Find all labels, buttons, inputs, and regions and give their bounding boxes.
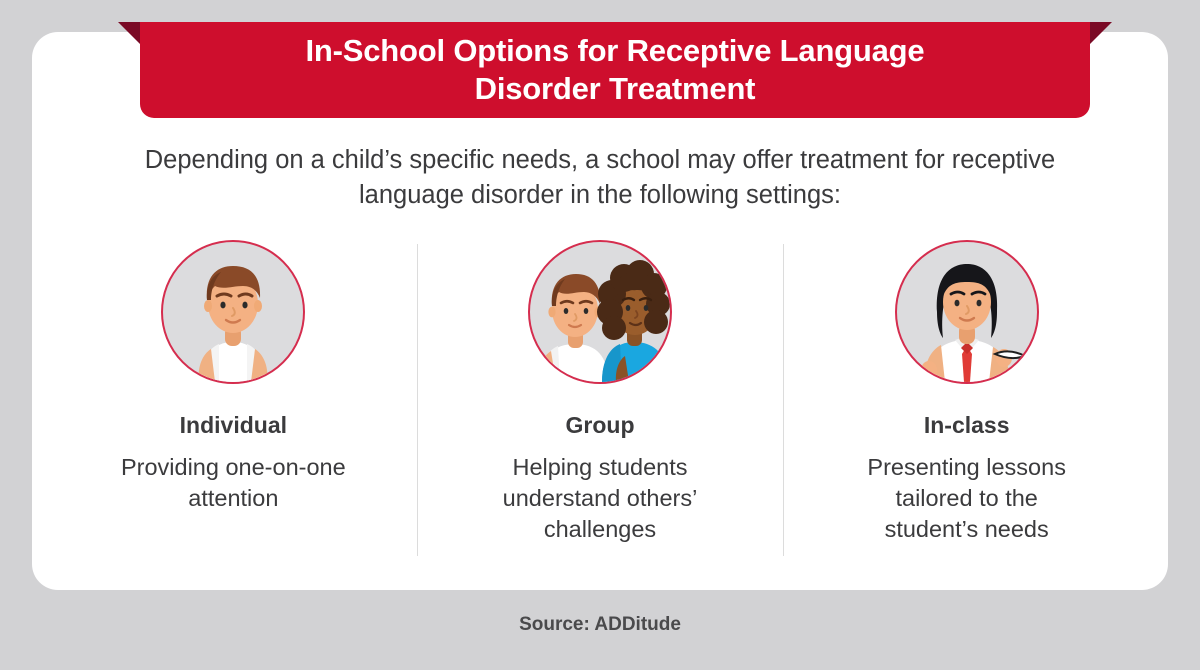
- option-description: Presenting lessons tailored to the stude…: [867, 452, 1066, 545]
- ribbon-body: In-School Options for Receptive Language…: [140, 22, 1090, 118]
- page-title: In-School Options for Receptive Language…: [276, 32, 955, 108]
- option-description: Providing one-on-one attention: [121, 452, 346, 514]
- source-label: Source: ADDitude: [0, 614, 1200, 636]
- option-column-group: Group Helping students understand others…: [417, 240, 784, 570]
- option-heading: Individual: [180, 412, 287, 439]
- option-column-in-class: In-class Presenting lessons tailored to …: [783, 240, 1150, 570]
- title-ribbon: In-School Options for Receptive Language…: [140, 22, 1090, 118]
- option-description: Helping students understand others’ chal…: [503, 452, 698, 545]
- option-heading: In-class: [924, 412, 1010, 439]
- option-column-individual: Individual Providing one-on-one attentio…: [50, 240, 417, 570]
- option-heading: Group: [566, 412, 635, 439]
- single-student-avatar-icon: [161, 240, 305, 384]
- intro-text: Depending on a child’s specific needs, a…: [80, 143, 1120, 212]
- teacher-avatar-icon: [895, 240, 1039, 384]
- two-students-avatar-icon: [528, 240, 672, 384]
- options-row: Individual Providing one-on-one attentio…: [50, 240, 1150, 570]
